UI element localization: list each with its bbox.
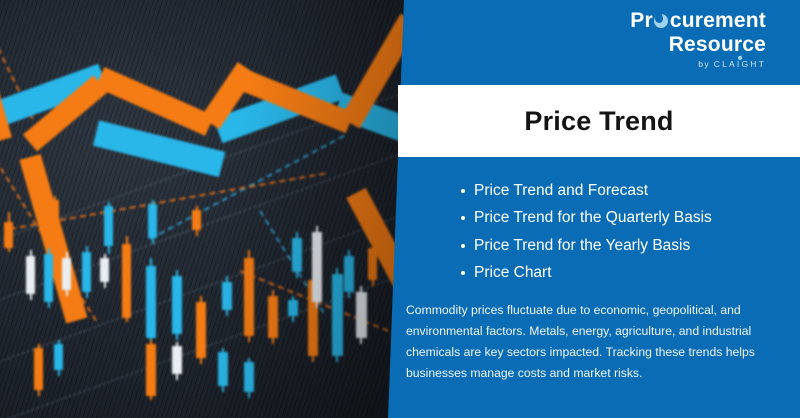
globe-icon <box>653 13 669 29</box>
candle-body <box>172 346 182 374</box>
photo-artwork-layer <box>0 0 404 418</box>
candle-body <box>100 258 109 282</box>
logo-text-post: curement <box>670 9 766 32</box>
brand-logo[interactable]: Prcurement Resource by CLAIGHT <box>630 10 766 69</box>
candle-body <box>148 204 157 238</box>
candle-body <box>222 282 232 310</box>
logo-tagline: by CLAIGHT <box>630 60 766 69</box>
candle-body <box>218 352 228 386</box>
logo-brand-claight: CLAIGHT <box>714 59 766 69</box>
logo-line-1: Prcurement <box>630 10 766 31</box>
body-paragraph: Commodity prices fluctuate due to econom… <box>406 300 772 384</box>
logo-brand-pre: CLA <box>714 59 737 69</box>
candle-body <box>4 222 13 248</box>
financial-chart-photo <box>0 0 404 418</box>
candle-body <box>332 274 343 356</box>
candle-body <box>122 244 131 318</box>
candle-body <box>312 232 322 302</box>
page-title: Price Trend <box>524 106 673 137</box>
logo-tagline-prefix: by <box>698 59 710 69</box>
candle-body <box>368 248 377 280</box>
candle-body <box>44 254 53 302</box>
logo-brand-post: GHT <box>741 59 766 69</box>
candle-body <box>192 210 201 230</box>
candle-body <box>82 252 91 292</box>
logo-text-pre: Pr <box>630 9 653 32</box>
candle-body <box>344 256 354 292</box>
list-item[interactable]: Price Chart <box>458 262 788 284</box>
candle-body <box>26 256 35 294</box>
candle-body <box>268 296 278 338</box>
candle-body <box>292 238 302 272</box>
candle-body <box>146 266 156 338</box>
candle-body <box>50 200 59 250</box>
logo-brand-i: I <box>737 59 742 69</box>
candle-body <box>288 300 298 316</box>
candle-body <box>196 302 206 358</box>
candle-body <box>54 344 63 370</box>
candle-body <box>356 292 367 338</box>
topic-bullet-list: Price Trend and Forecast Price Trend for… <box>458 180 788 290</box>
candle-body <box>34 348 43 390</box>
candle-body <box>104 206 113 246</box>
candle-body <box>172 276 182 334</box>
list-item[interactable]: Price Trend for the Quarterly Basis <box>458 207 788 229</box>
list-item[interactable]: Price Trend for the Yearly Basis <box>458 235 788 257</box>
candle-body <box>146 344 156 396</box>
list-item[interactable]: Price Trend and Forecast <box>458 180 788 202</box>
title-band: Price Trend <box>398 85 800 157</box>
logo-line-2: Resource <box>630 34 766 55</box>
candle-body <box>244 362 254 392</box>
slide-root: Prcurement Resource by CLAIGHT Price Tre… <box>0 0 800 418</box>
candle-body <box>62 258 71 290</box>
candle-body <box>244 258 254 336</box>
